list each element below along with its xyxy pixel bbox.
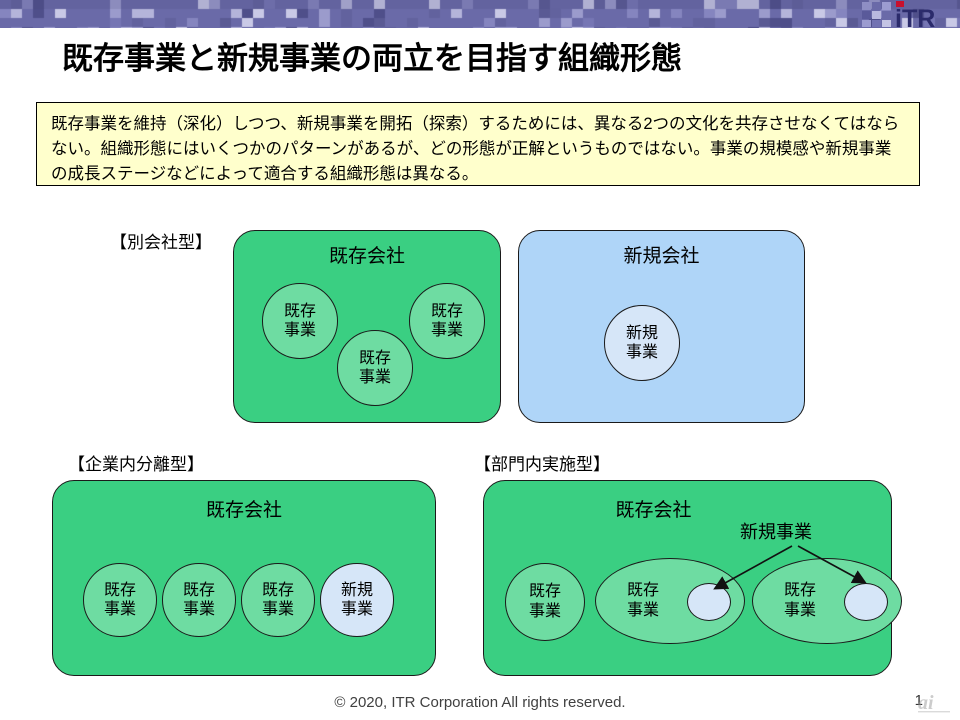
- header-banner: [0, 0, 960, 28]
- new-business-unit-circle: 新規 事業: [320, 563, 394, 637]
- section-label-separate-company: 【別会社型】: [110, 228, 212, 253]
- slide: iTR 既存事業と新規事業の両立を目指す組織形態 既存事業を維持（深化）しつつ、…: [0, 0, 960, 720]
- ai-watermark-icon: ai: [918, 690, 952, 714]
- unit-line1: 既存: [431, 302, 463, 321]
- unit-line2: 事業: [784, 602, 816, 619]
- footer-copyright: © 2020, ITR Corporation All rights reser…: [0, 694, 960, 711]
- svg-text:ai: ai: [918, 692, 934, 714]
- business-unit-circle: 既存 事業: [83, 563, 157, 637]
- note-text: 既存事業を維持（深化）しつつ、新規事業を開拓（探索）するためには、異なる2つの文…: [51, 112, 907, 187]
- unit-line1: 既存: [627, 582, 659, 599]
- unit-line1: 既存: [262, 581, 294, 600]
- business-unit-circle: 既存 事業: [241, 563, 315, 637]
- unit-line1: 既存: [183, 581, 215, 600]
- unit-line1: 新規: [626, 324, 658, 343]
- mosaic-pattern: [0, 0, 960, 28]
- svg-text:iTR: iTR: [895, 5, 935, 30]
- note-box: 既存事業を維持（深化）しつつ、新規事業を開拓（探索）するためには、異なる2つの文…: [36, 102, 920, 186]
- unit-line1: 既存: [104, 581, 136, 600]
- new-business-unit-circle: 新規 事業: [604, 305, 680, 381]
- unit-line2: 事業: [626, 343, 658, 362]
- business-unit-circle: 既存 事業: [337, 330, 413, 406]
- department-label: 既存 事業: [757, 581, 843, 621]
- unit-line1: 既存: [784, 582, 816, 599]
- unit-line2: 事業: [341, 600, 373, 619]
- unit-line2: 事業: [262, 600, 294, 619]
- page-title: 既存事業と新規事業の両立を目指す組織形態: [62, 38, 862, 80]
- department-label: 既存 事業: [600, 581, 686, 621]
- itr-logo: iTR: [862, 0, 954, 30]
- business-unit-circle: 既存 事業: [409, 283, 485, 359]
- box-title-existing-c: 既存会社: [416, 495, 891, 522]
- new-venture-bubble: [844, 583, 888, 621]
- unit-line2: 事業: [431, 321, 463, 340]
- unit-line2: 事業: [529, 603, 561, 620]
- unit-line2: 事業: [627, 602, 659, 619]
- new-venture-bubble: [687, 583, 731, 621]
- box-title-new-a: 新規会社: [519, 241, 804, 268]
- unit-line2: 事業: [104, 600, 136, 619]
- unit-line1: 既存: [529, 583, 561, 600]
- department-label: 既存 事業: [506, 582, 584, 622]
- box-title-existing-a: 既存会社: [234, 241, 500, 268]
- unit-line1: 既存: [284, 302, 316, 321]
- unit-line1: 既存: [359, 349, 391, 368]
- unit-line2: 事業: [183, 600, 215, 619]
- unit-line2: 事業: [359, 368, 391, 387]
- business-unit-circle: 既存 事業: [262, 283, 338, 359]
- new-business-callout-label: 新規事業: [740, 518, 812, 544]
- unit-line1: 新規: [341, 581, 373, 600]
- unit-line2: 事業: [284, 321, 316, 340]
- box-title-existing-b: 既存会社: [53, 495, 435, 522]
- business-unit-circle: 既存 事業: [162, 563, 236, 637]
- department-ellipse: 既存 事業: [505, 563, 585, 641]
- section-label-intra-company: 【企業内分離型】: [68, 450, 204, 475]
- section-label-within-department: 【部門内実施型】: [474, 450, 610, 475]
